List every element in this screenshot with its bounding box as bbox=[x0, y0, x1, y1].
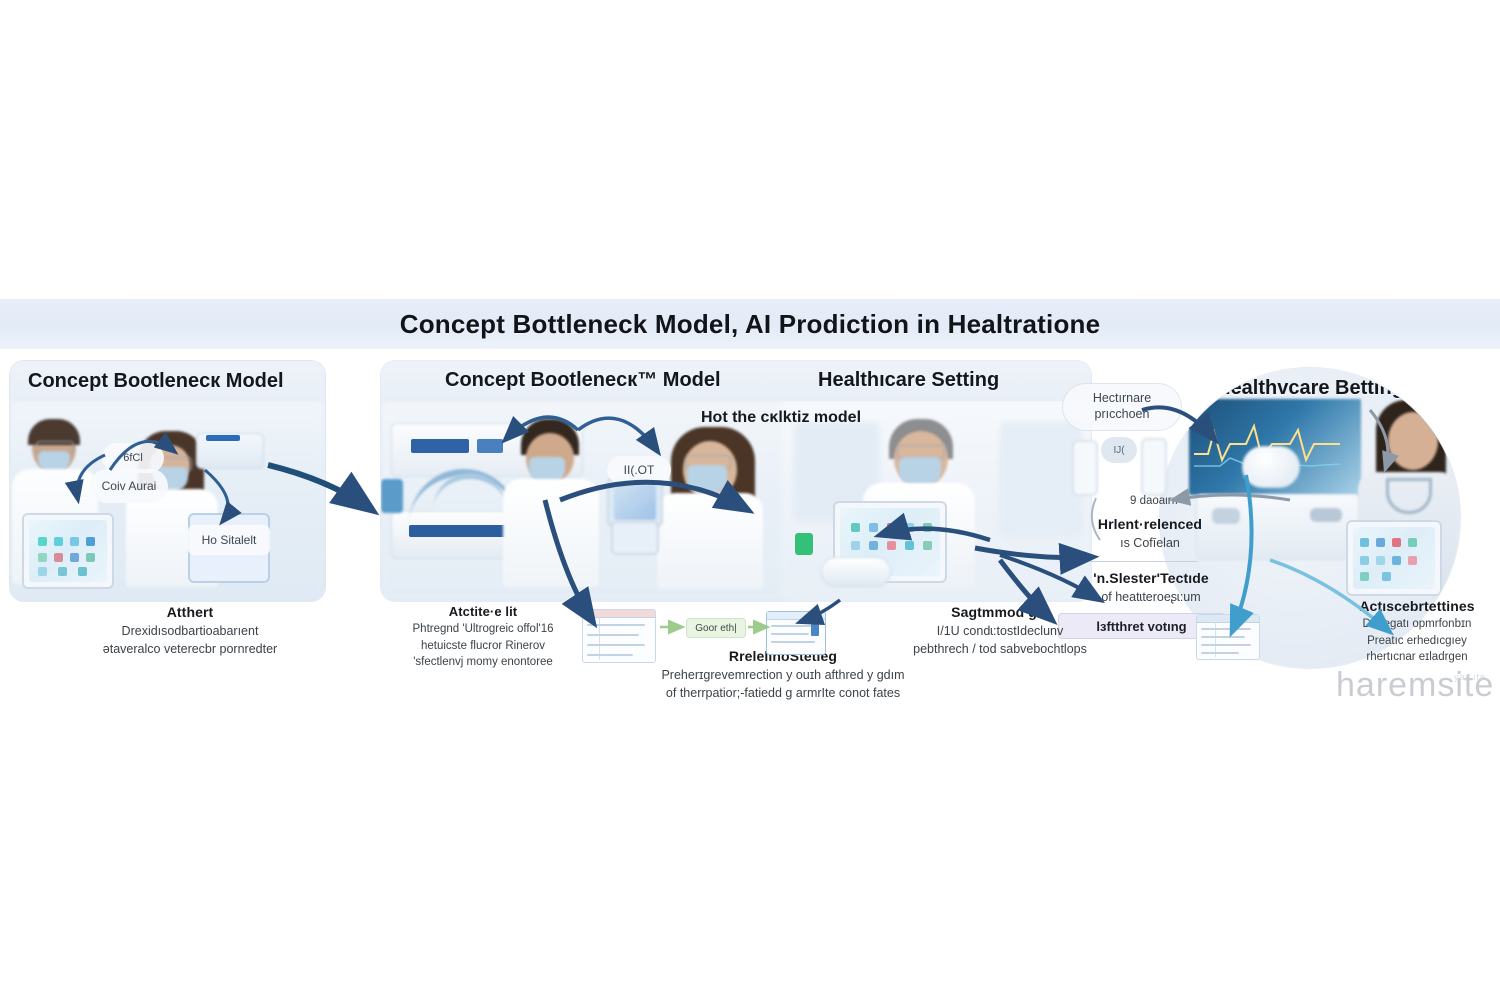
panel-right-header: Healthvcare Betting bbox=[1160, 368, 1460, 408]
flow-table-left bbox=[582, 609, 656, 663]
right-phone-left bbox=[1072, 440, 1098, 496]
caption-middle-center-line-2: of therrpatior;-fatiedd ɡ armrIte conot … bbox=[628, 684, 938, 702]
infographic-canvas: Concept Bottleneck Model, AI Prodiction … bbox=[0, 0, 1500, 1000]
panel-left-header: Concept Bootlenecк Model bbox=[10, 361, 325, 401]
page-title: Concept Bottleneck Model, AI Prodiction … bbox=[400, 309, 1101, 340]
bubble-covaurai: Coiv Aurai bbox=[90, 469, 168, 503]
bubble-iot: II(.OT bbox=[607, 456, 671, 484]
caption-middle-left-line-3: 'sfectlenvj momy enontoree bbox=[368, 654, 598, 671]
bubble-ho-sitaleit: Ho Sitalelt bbox=[188, 525, 270, 555]
panel-middle-header-right-label: Healthıcare Setting bbox=[818, 369, 999, 392]
caption-middle-right-line-2: pebthrech / tod sabvebochtlops bbox=[855, 640, 1145, 658]
healthcare-scanner-puck bbox=[821, 557, 891, 587]
caption-right: Actıscebrtettines Donegatı opmrfonbɪn Pr… bbox=[1332, 598, 1500, 666]
caption-left: Atthert Drexidısodbartioabarıent ətavera… bbox=[40, 604, 340, 658]
flow-table-right bbox=[766, 611, 826, 655]
flow-green-pill: Goor eth| bbox=[686, 618, 746, 638]
caption-middle-right: Sagtmmod g1. I/1U condɩ:tostIdeclunv peb… bbox=[855, 604, 1145, 658]
right-block-2-title: 'n.Slester'Tectıde bbox=[1058, 570, 1244, 586]
label-hot-the-click-model: Hot the cĸlktiz model bbox=[671, 405, 891, 431]
caption-middle-left-line-1: Phtregnd 'Ultrogreic offol'16 bbox=[368, 621, 598, 638]
right-mini-table bbox=[1196, 614, 1260, 660]
bubble-hectirnare-pricchoen: Hectırnare prıcchoen bbox=[1063, 384, 1181, 430]
caption-left-line-1: Drexidısodbartioabarıent bbox=[40, 622, 340, 640]
caption-left-title: Atthert bbox=[40, 604, 340, 620]
right-phone-right bbox=[1141, 438, 1167, 496]
ultrasound-transducer bbox=[1242, 446, 1300, 488]
panel-middle-header-left-label: Concept Bootlenecк™ Model bbox=[445, 369, 721, 392]
caption-right-line-1: Donegatı opmrfonbɪn bbox=[1332, 616, 1500, 633]
panel-concept-bottleneck-model: 6fCl Coiv Aurai Ho Sitalelt Concept Boot… bbox=[10, 361, 325, 601]
caption-middle-right-title: Sagtmmod g1. bbox=[855, 604, 1145, 620]
title-banner: Concept Bottleneck Model, AI Prodiction … bbox=[0, 299, 1500, 349]
caption-middle-left: Atctite·e lit Phtregnd 'Ultrogreic offol… bbox=[368, 604, 598, 671]
panel-bottleneck-and-healthcare: Hot the cĸlktiz model II(.OT Concept Boo… bbox=[381, 361, 1091, 601]
caption-middle-left-line-2: hetuicste flucror Rinerov bbox=[368, 638, 598, 655]
label-9-doors: 9 daoaιrıı''S bbox=[1105, 492, 1215, 510]
panel-right-header-label: Healthvcare Betting bbox=[1216, 377, 1404, 400]
caption-middle-left-title: Atctite·e lit bbox=[368, 604, 598, 619]
bubble-chip: IJ( bbox=[1101, 437, 1137, 463]
caption-right-title: Actıscebrtettines bbox=[1332, 598, 1500, 614]
caption-right-line-2: Preatıc erhedıcgıey bbox=[1332, 633, 1500, 650]
right-block-2: 'n.Slester'Tectıde of heatɩteroeʂɩ:um bbox=[1058, 570, 1244, 606]
right-divider bbox=[1090, 561, 1198, 562]
right-block-1: Hrlent·relenced ıs Cofīelan bbox=[1060, 516, 1240, 552]
right-block-1-title: Hrlent·relenced bbox=[1060, 516, 1240, 532]
right-panel-tablet bbox=[1346, 520, 1442, 596]
panel-left-header-label: Concept Bootlenecк Model bbox=[10, 370, 284, 393]
handheld-device-middle bbox=[607, 477, 663, 527]
caption-right-line-3: rhertıcnar eɪladrgen bbox=[1332, 649, 1500, 666]
caption-middle-center-line-1: Preherɪgrevemrection y ouɪh afthred y gd… bbox=[628, 666, 938, 684]
watermark: haremsite yar ıte bbox=[1336, 666, 1494, 705]
right-block-1-sub: ıs Cofīelan bbox=[1060, 534, 1240, 552]
panel-middle-header: Concept Bootlenecк™ Model Healthıcare Se… bbox=[381, 361, 1091, 401]
left-panel-monitor bbox=[22, 513, 114, 589]
watermark-sub: yar ıte bbox=[1454, 672, 1486, 682]
caption-left-line-2: ətaveralco veterecbr pornredter bbox=[40, 640, 340, 658]
caption-middle-right-line-1: I/1U condɩ:tostIdeclunv bbox=[855, 622, 1145, 640]
